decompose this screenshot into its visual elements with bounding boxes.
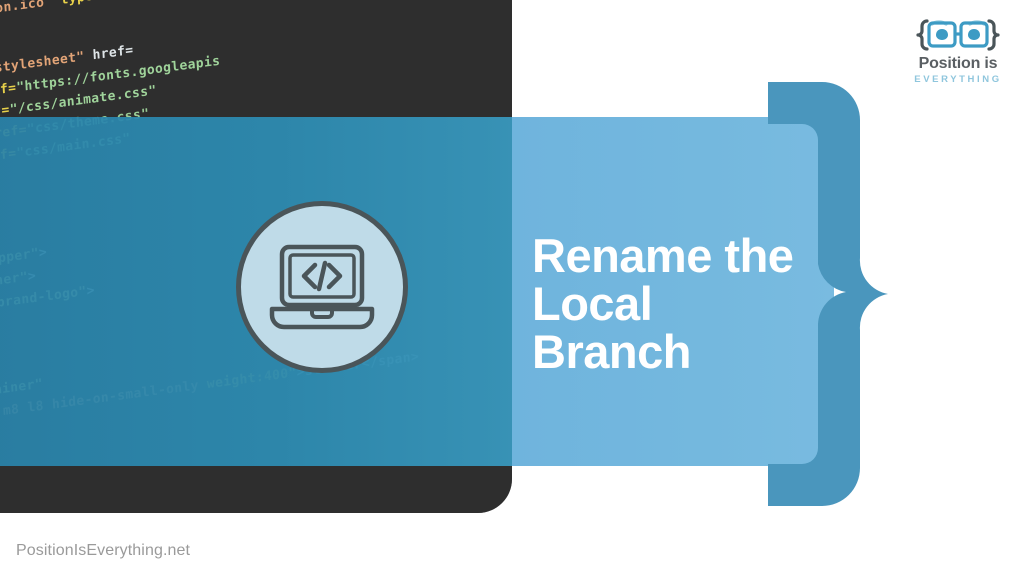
glasses-braces-logo-icon — [915, 10, 1001, 54]
brand-logo[interactable]: Position is EVERYTHING — [906, 10, 1010, 85]
code-token: href= — [84, 43, 134, 64]
logo-text-secondary: EVERYTHING — [906, 74, 1010, 85]
laptop-code-icon — [268, 241, 376, 333]
slide-canvas: title>e="viewport" content="width=device… — [0, 0, 1024, 576]
curly-brace-decoration — [762, 76, 894, 516]
curly-brace-icon — [762, 76, 894, 516]
footer-website-url: PositionIsEverything.net — [16, 542, 190, 560]
logo-text-primary: Position is — [906, 55, 1010, 73]
laptop-code-badge — [236, 201, 408, 373]
